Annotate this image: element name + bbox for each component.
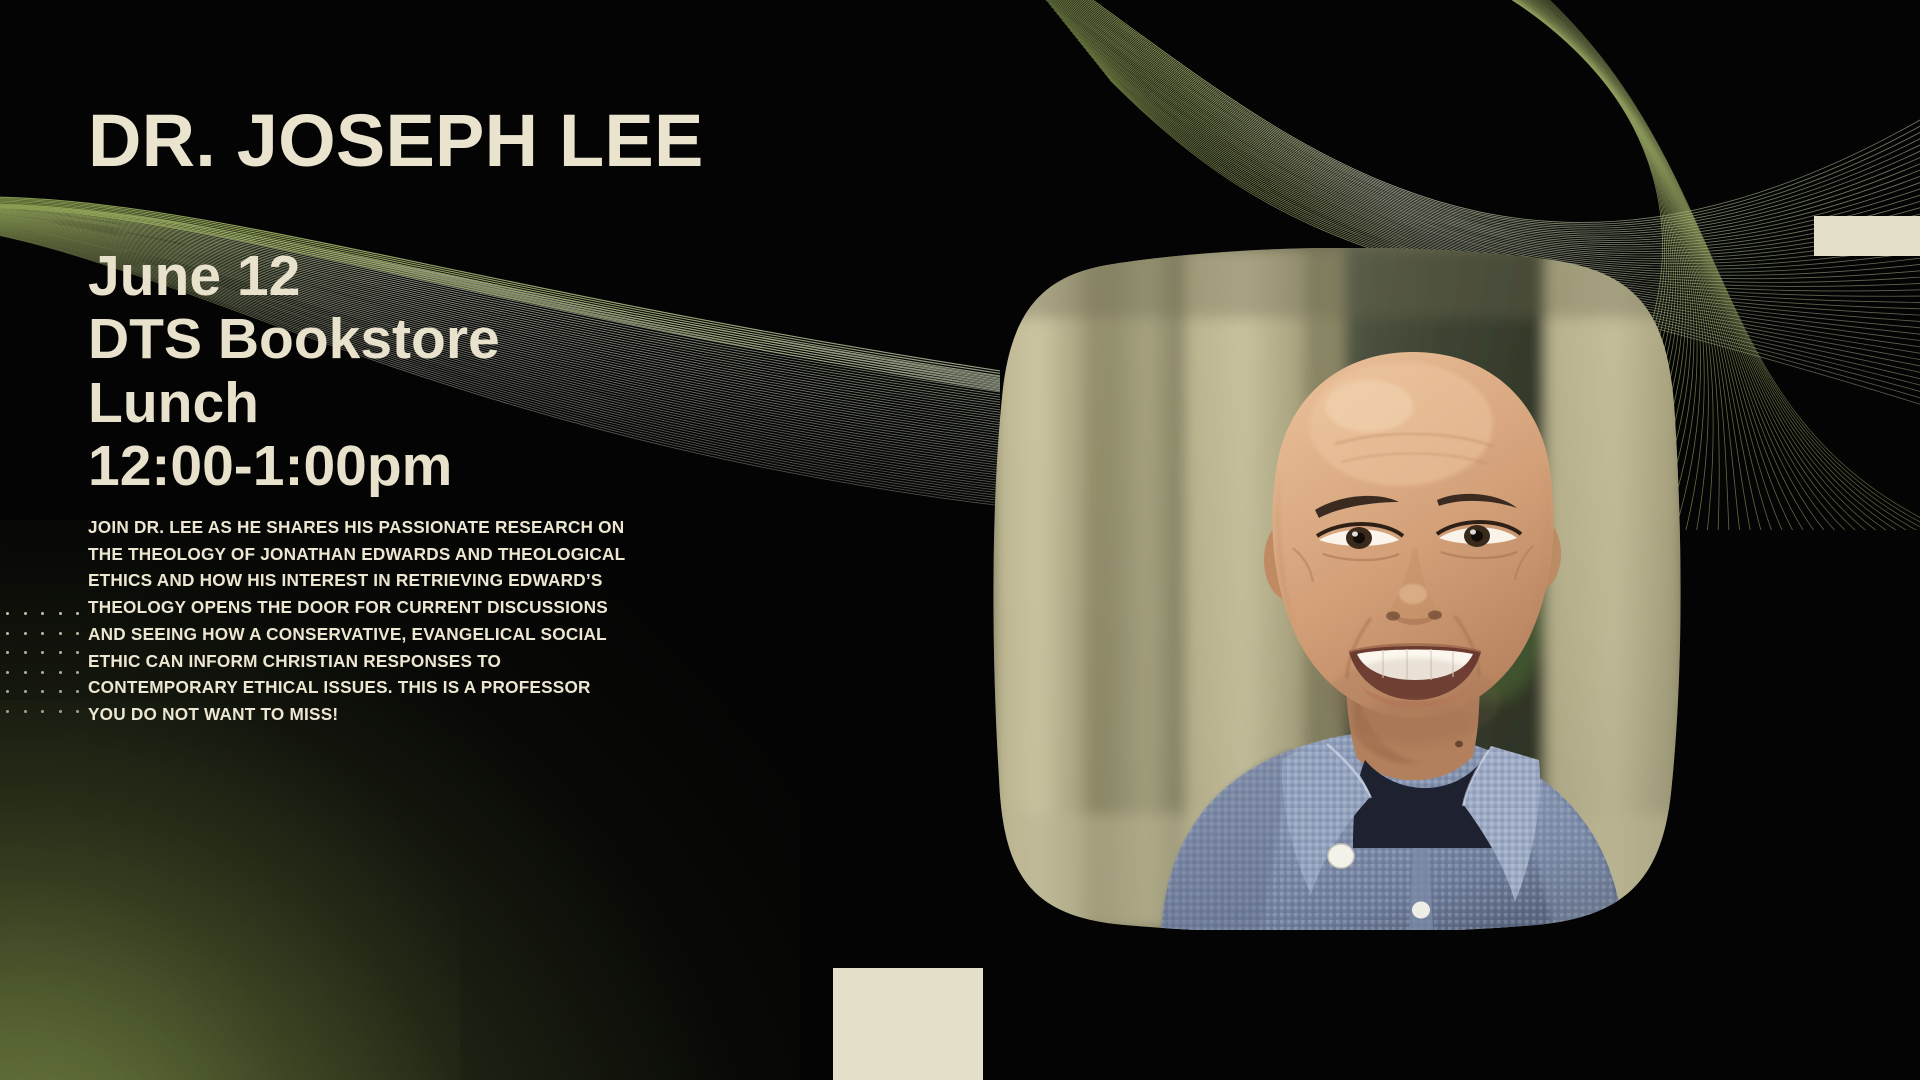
dot-grid-dot (6, 612, 9, 615)
description-line: AND SEEING HOW A CONSERVATIVE, EVANGELIC… (88, 621, 713, 648)
event-time: 12:00-1:00pm (88, 435, 500, 498)
description-line: JOIN DR. LEE AS HE SHARES HIS PASSIONATE… (88, 514, 713, 541)
dot-grid-dot (59, 632, 62, 635)
dot-grid-dot (76, 671, 79, 674)
dot-grid-dot (6, 671, 9, 674)
dot-grid-dot (24, 651, 27, 654)
dot-grid-dot (41, 612, 44, 615)
description-line: YOU DO NOT WANT TO MISS! (88, 701, 713, 728)
dot-grid-dot (41, 671, 44, 674)
dot-grid-dot (24, 690, 27, 693)
dot-grid-dot (24, 671, 27, 674)
green-radial-glow-inner (0, 700, 460, 1080)
dot-grid-dot (59, 671, 62, 674)
dot-grid-dot (76, 612, 79, 615)
dot-grid-dot (41, 632, 44, 635)
dot-grid-dot (24, 710, 27, 713)
event-details: June 12 DTS Bookstore Lunch 12:00-1:00pm (88, 245, 500, 498)
dot-grid-dot (59, 710, 62, 713)
dot-grid-dot (59, 690, 62, 693)
speaker-portrait (993, 248, 1683, 930)
event-description: JOIN DR. LEE AS HE SHARES HIS PASSIONATE… (88, 514, 713, 728)
event-meal: Lunch (88, 372, 500, 435)
dot-grid-dot (76, 710, 79, 713)
dot-grid-dot (59, 651, 62, 654)
page-title: DR. JOSEPH LEE (88, 104, 704, 178)
dot-grid-dot (41, 710, 44, 713)
description-line: ETHICS AND HOW HIS INTEREST IN RETRIEVIN… (88, 567, 713, 594)
dot-grid-dot (76, 690, 79, 693)
dot-grid-dot (41, 690, 44, 693)
description-line: THE THEOLOGY OF JONATHAN EDWARDS AND THE… (88, 541, 713, 568)
dot-grid-dot (76, 632, 79, 635)
cream-accent-rectangle-bottom (833, 968, 983, 1080)
event-date: June 12 (88, 245, 500, 308)
dot-grid-icon (6, 612, 90, 730)
dot-grid-dot (6, 710, 9, 713)
cream-accent-rectangle-right (1814, 216, 1920, 256)
dot-grid-dot (41, 651, 44, 654)
dot-grid-dot (24, 632, 27, 635)
dot-grid-dot (24, 612, 27, 615)
dot-grid-dot (76, 651, 79, 654)
dot-grid-dot (6, 651, 9, 654)
portrait-image (993, 248, 1683, 930)
description-line: CONTEMPORARY ETHICAL ISSUES. THIS IS A P… (88, 674, 713, 701)
dot-grid-dot (6, 632, 9, 635)
description-line: ETHIC CAN INFORM CHRISTIAN RESPONSES TO (88, 648, 713, 675)
event-poster: DR. JOSEPH LEE June 12 DTS Bookstore Lun… (0, 0, 1920, 1080)
description-line: THEOLOGY OPENS THE DOOR FOR CURRENT DISC… (88, 594, 713, 621)
event-location: DTS Bookstore (88, 308, 500, 371)
dot-grid-dot (6, 690, 9, 693)
dot-grid-dot (59, 612, 62, 615)
portrait-clip-shape (993, 248, 1683, 930)
